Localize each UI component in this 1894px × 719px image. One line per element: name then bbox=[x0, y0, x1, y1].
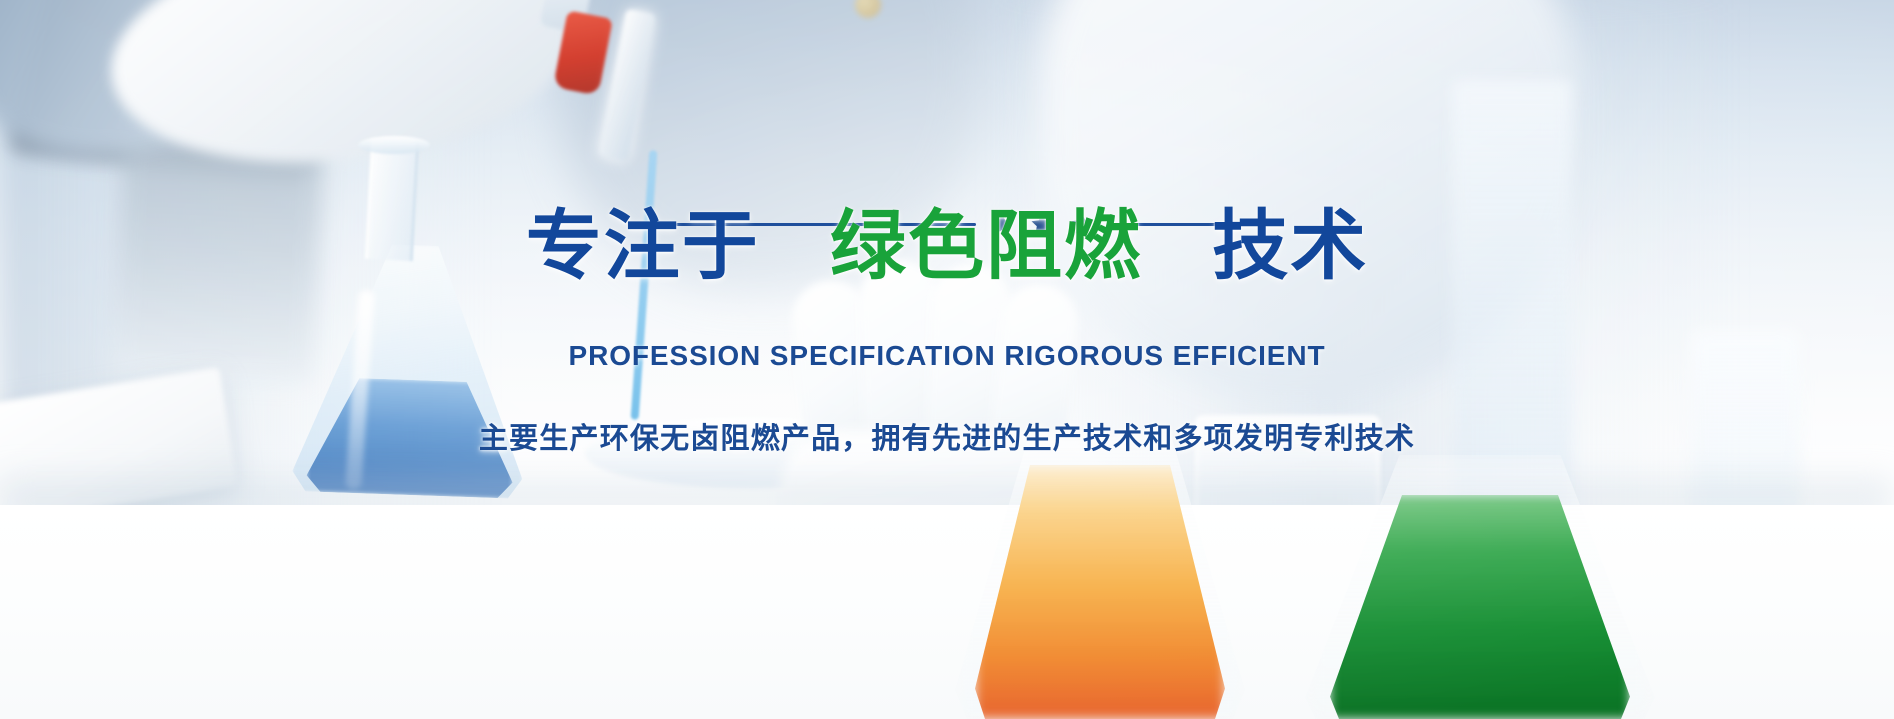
flask-blue-neck bbox=[365, 139, 419, 261]
clear-cylinder-back bbox=[1452, 80, 1572, 510]
flask-blue-rim bbox=[358, 136, 430, 154]
hero-banner: 专注于 绿色阻燃 技术 PROFESSION SPECIFICATION RIG… bbox=[0, 0, 1894, 719]
erlenmeyer-flask-blue bbox=[300, 140, 540, 500]
background-photo bbox=[0, 0, 1894, 719]
